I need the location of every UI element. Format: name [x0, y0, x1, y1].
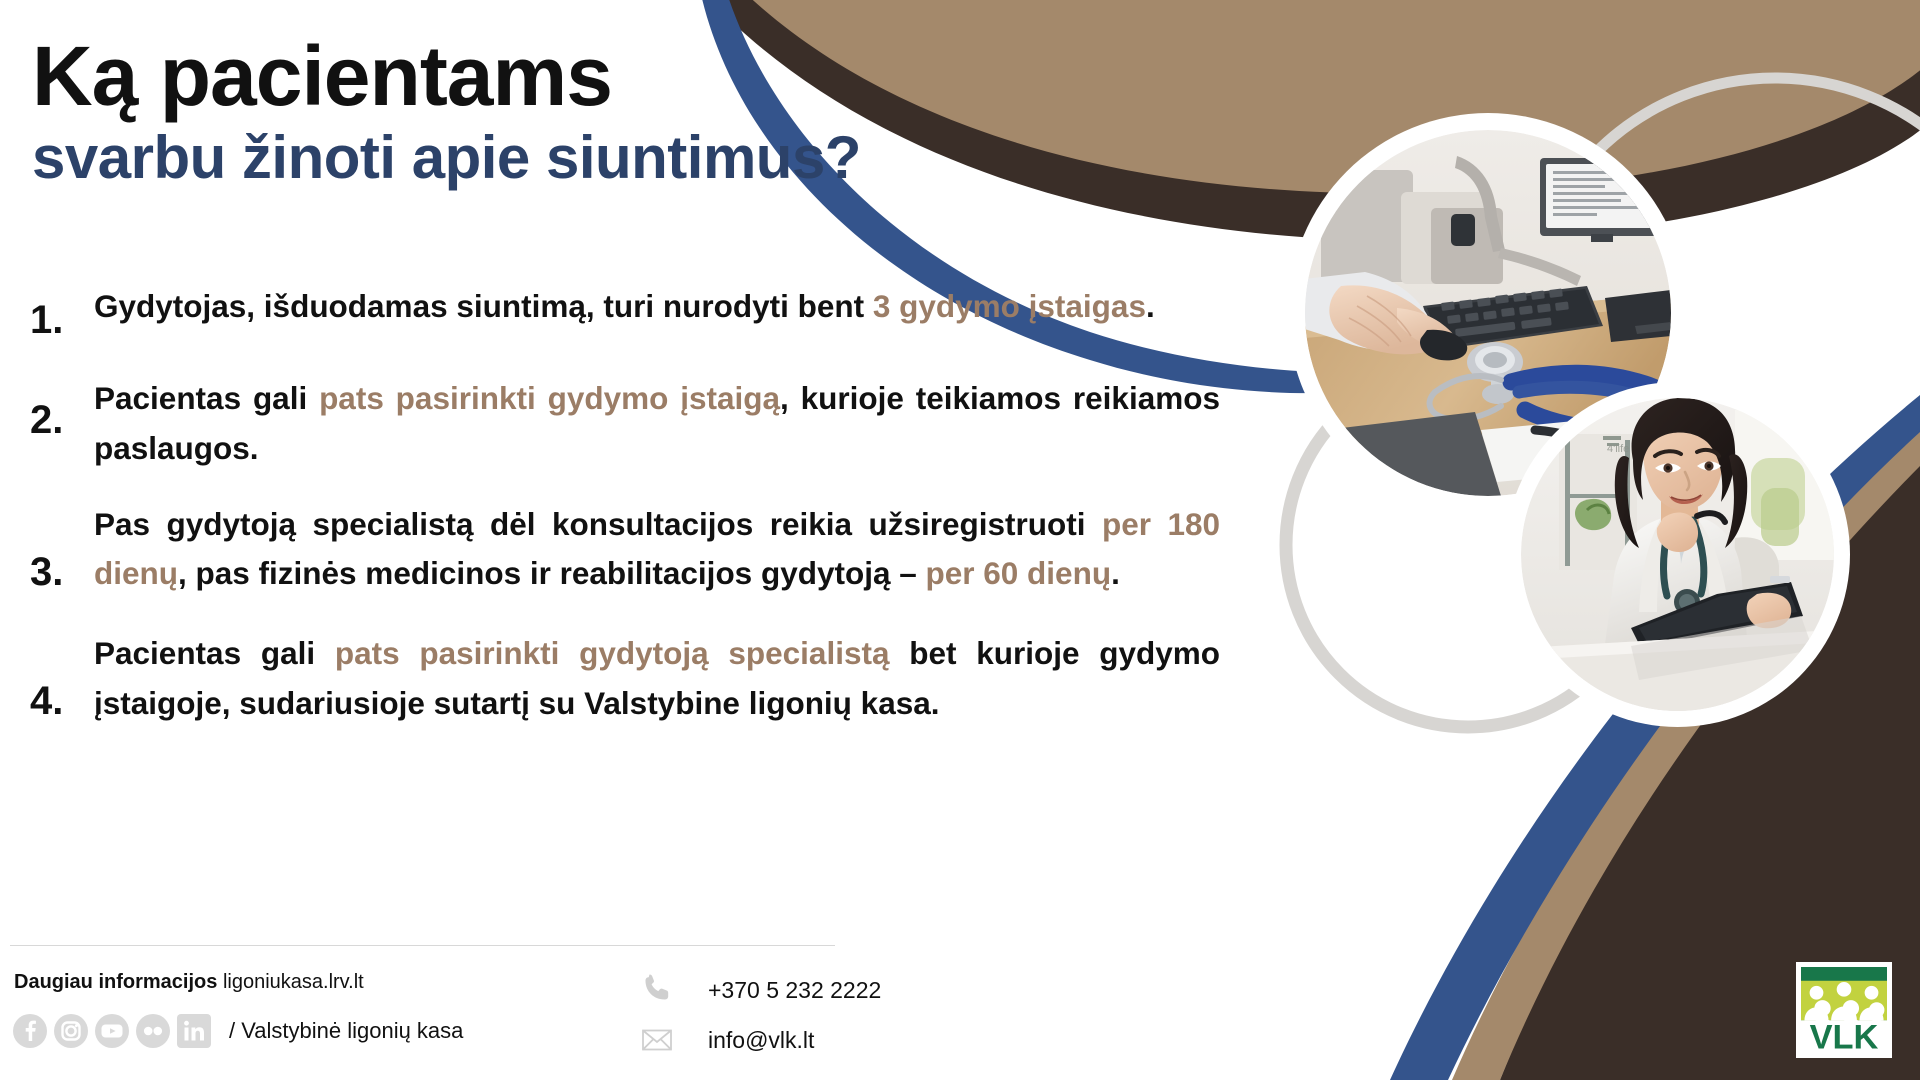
more-info-line: Daugiau informacijos ligoniukasa.lrv.lt: [14, 971, 364, 994]
list-item: 3. Pas gydytoją specialistą dėl konsulta…: [30, 500, 1220, 600]
flickr-icon[interactable]: [135, 1013, 171, 1049]
highlight-segment: pats pasirinkti gydymo įstaigą: [319, 380, 780, 416]
list-item: 1. Gydytojas, išduodamas siuntimą, turi …: [30, 282, 1220, 340]
phone-number[interactable]: +370 5 232 2222: [708, 977, 881, 1004]
page-title: Ką pacientams: [32, 34, 861, 120]
envelope-icon: [640, 1023, 674, 1057]
list-item-text: Pacientas gali pats pasirinkti gydymo įs…: [94, 374, 1220, 474]
vlk-logo: VLK: [1796, 962, 1892, 1058]
numbered-list: 1. Gydytojas, išduodamas siuntimą, turi …: [30, 282, 1220, 755]
text-segment: .: [1111, 555, 1120, 591]
footer: Daugiau informacijos ligoniukasa.lrv.lt: [0, 945, 1920, 1080]
youtube-icon[interactable]: [94, 1013, 130, 1049]
highlight-segment: per 60 dienų: [926, 555, 1112, 591]
more-info-label: Daugiau informacijos: [14, 971, 217, 993]
instagram-icon[interactable]: [53, 1013, 89, 1049]
list-item: 2. Pacientas gali pats pasirinkti gydymo…: [30, 374, 1220, 474]
website-link[interactable]: ligoniukasa.lrv.lt: [223, 971, 364, 993]
facebook-icon[interactable]: [12, 1013, 48, 1049]
email-row: info@vlk.lt: [640, 1015, 881, 1065]
text-segment: Pacientas gali: [94, 635, 335, 671]
vlk-logo-text: VLK: [1810, 1019, 1879, 1053]
linkedin-icon[interactable]: [176, 1013, 212, 1049]
list-item-number: 4.: [30, 629, 94, 721]
page-subtitle: svarbu žinoti apie siuntimus?: [32, 126, 861, 191]
social-links-row: / Valstybinė ligonių kasa: [12, 1013, 463, 1049]
top-tan-swoosh: [735, 0, 1920, 199]
top-brown-swoosh: [700, 0, 1920, 241]
list-item-number: 2.: [30, 374, 94, 440]
phone-icon: [640, 973, 674, 1007]
svg-text:4'life: 4'life: [1607, 443, 1629, 455]
social-handle: / Valstybinė ligonių kasa: [229, 1018, 463, 1044]
text-segment: Gydytojas, išduodamas siuntimą, turi nur…: [94, 288, 873, 324]
list-item-number: 3.: [30, 500, 94, 592]
text-segment: Pacientas gali: [94, 380, 319, 416]
text-segment: , pas fizinės medicinos ir reabilitacijo…: [178, 555, 926, 591]
list-item: 4. Pacientas gali pats pasirinkti gydyto…: [30, 629, 1220, 729]
photo-smiling-doctor-with-clipboard: 4'life: [1521, 398, 1834, 711]
email-address[interactable]: info@vlk.lt: [708, 1027, 814, 1054]
phone-row: +370 5 232 2222: [640, 965, 881, 1015]
text-segment: Pas gydytoją specialistą dėl konsultacij…: [94, 506, 1102, 542]
highlight-segment: 3 gydymo įstaigas: [873, 288, 1146, 324]
headline-block: Ką pacientams svarbu žinoti apie siuntim…: [32, 34, 861, 190]
list-item-text: Pacientas gali pats pasirinkti gydytoją …: [94, 629, 1220, 729]
footer-divider: [10, 945, 835, 946]
text-segment: .: [1146, 288, 1155, 324]
highlight-segment: pats pasirinkti gydytoją specialistą: [335, 635, 890, 671]
list-item-text: Gydytojas, išduodamas siuntimą, turi nur…: [94, 282, 1220, 332]
contact-block: +370 5 232 2222 info@vlk.lt: [640, 965, 881, 1065]
list-item-number: 1.: [30, 282, 94, 340]
list-item-text: Pas gydytoją specialistą dėl konsultacij…: [94, 500, 1220, 600]
